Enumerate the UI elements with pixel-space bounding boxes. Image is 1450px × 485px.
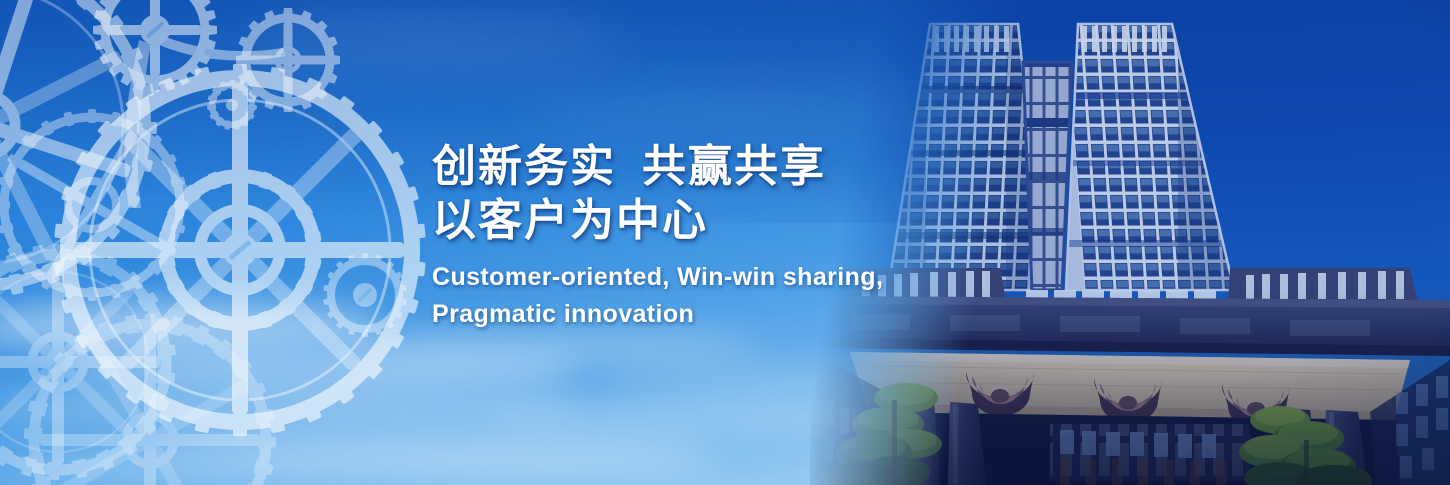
- slogan-block: 创新务实共赢共享 以客户为中心 Customer-oriented, Win-w…: [432, 140, 883, 332]
- headline-line-2: 以客户为中心: [432, 194, 883, 248]
- photo-bottom-shade: [810, 285, 1450, 485]
- subtitle-line-1: Customer-oriented, Win-win sharing,: [432, 259, 883, 295]
- headline-line-1: 创新务实共赢共享: [432, 140, 883, 194]
- headline-part-2: 共赢共享: [642, 142, 826, 191]
- office-tower-photo: [810, 0, 1450, 485]
- headline-part-1: 创新务实: [432, 142, 616, 191]
- hero-banner: 创新务实共赢共享 以客户为中心 Customer-oriented, Win-w…: [0, 0, 1450, 485]
- subtitle-line-2: Pragmatic innovation: [432, 296, 883, 332]
